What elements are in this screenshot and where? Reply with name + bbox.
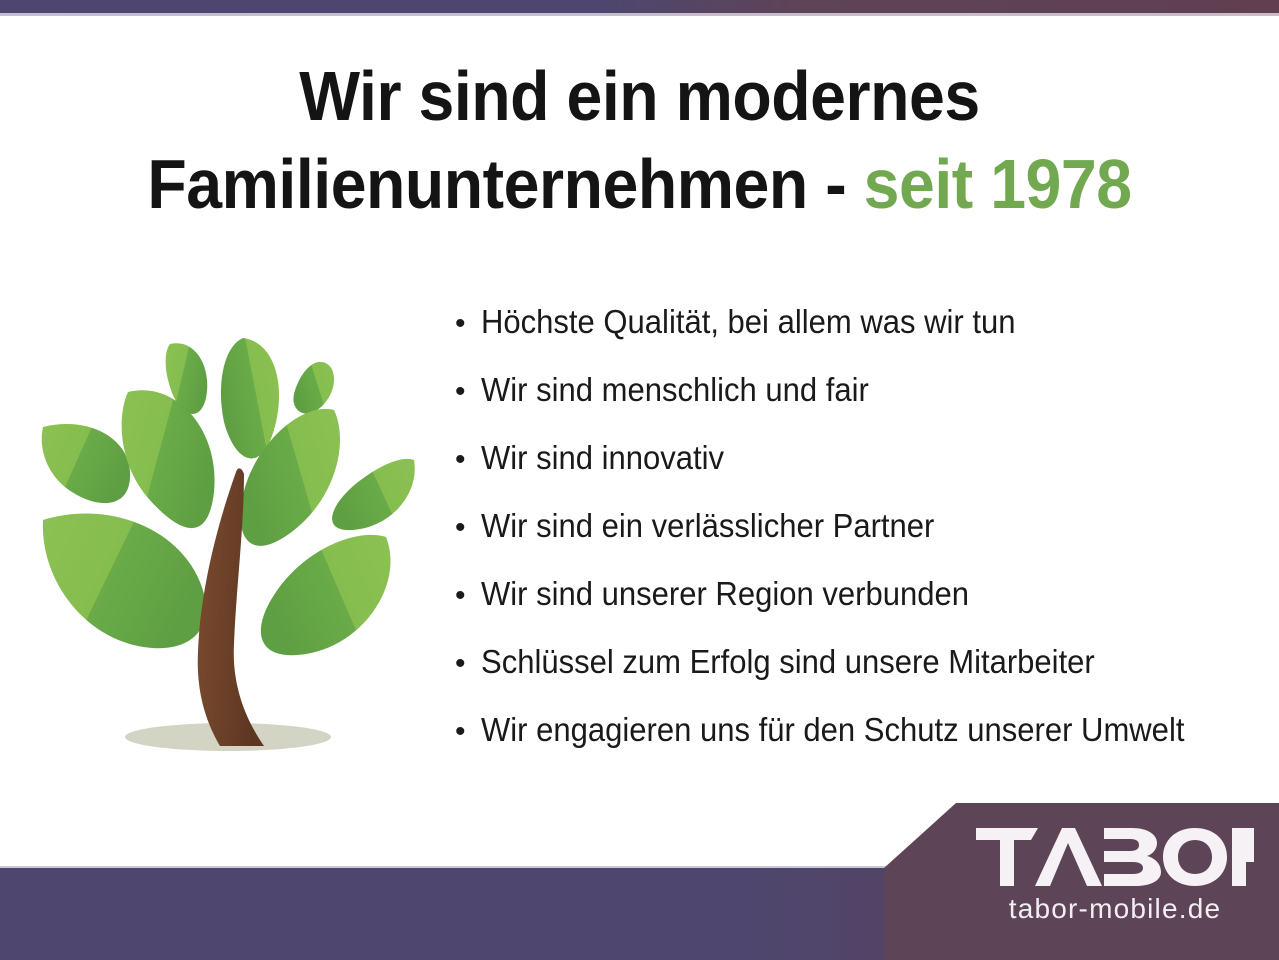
list-item-label: Wir sind ein verlässlicher Partner bbox=[481, 506, 934, 546]
list-item-label: Wir sind unserer Region verbunden bbox=[481, 574, 969, 614]
bullet-marker-icon: • bbox=[455, 309, 481, 339]
headline-line-1: Wir sind ein modernes bbox=[51, 52, 1228, 140]
bullet-marker-icon: • bbox=[455, 513, 481, 543]
list-item-label: Höchste Qualität, bei allem was wir tun bbox=[481, 302, 1015, 342]
list-item-label: Wir sind menschlich und fair bbox=[481, 370, 869, 410]
list-item: • Wir sind innovativ bbox=[455, 438, 1270, 506]
bullet-marker-icon: • bbox=[455, 717, 481, 747]
leaf-lower-right bbox=[261, 535, 391, 655]
leaf-top-right bbox=[293, 362, 334, 414]
list-item-label: Schlüssel zum Erfolg sind unsere Mitarbe… bbox=[481, 642, 1095, 682]
leaf-lower-left bbox=[43, 514, 206, 649]
list-item: • Höchste Qualität, bei allem was wir tu… bbox=[455, 302, 1270, 370]
slide: Wir sind ein modernes Familienunternehme… bbox=[0, 0, 1279, 960]
leaf-mid-right bbox=[332, 459, 415, 530]
top-accent-hairline bbox=[0, 13, 1279, 16]
list-item-label: Wir sind innovativ bbox=[481, 438, 724, 478]
bullet-marker-icon: • bbox=[455, 581, 481, 611]
bullet-marker-icon: • bbox=[455, 649, 481, 679]
bullet-marker-icon: • bbox=[455, 445, 481, 475]
leaf-upper-left bbox=[122, 390, 215, 528]
list-item: • Wir sind unserer Region verbunden bbox=[455, 574, 1270, 642]
list-item: • Wir engagieren uns für den Schutz unse… bbox=[455, 710, 1270, 778]
leaf-top-center bbox=[221, 338, 279, 458]
headline-line-2: Familienunternehmen - seit 1978 bbox=[51, 140, 1228, 228]
logo-panel: tabor-mobile.de bbox=[884, 803, 1279, 960]
leaf-mid-left bbox=[42, 424, 130, 503]
top-accent-bar bbox=[0, 0, 1279, 13]
page-title: Wir sind ein modernes Familienunternehme… bbox=[51, 52, 1228, 228]
list-item: • Wir sind ein verlässlicher Partner bbox=[455, 506, 1270, 574]
bullet-marker-icon: • bbox=[455, 377, 481, 407]
list-item-label: Wir engagieren uns für den Schutz unsere… bbox=[481, 710, 1184, 750]
logo-url-label: tabor-mobile.de bbox=[976, 893, 1254, 925]
value-list: • Höchste Qualität, bei allem was wir tu… bbox=[455, 302, 1270, 778]
headline-line-2-main: Familienunternehmen - bbox=[147, 145, 863, 223]
tabor-logo-icon bbox=[976, 828, 1254, 886]
headline-accent-year: seit 1978 bbox=[864, 145, 1132, 223]
list-item: • Wir sind menschlich und fair bbox=[455, 370, 1270, 438]
tree-illustration bbox=[28, 332, 428, 762]
list-item: • Schlüssel zum Erfolg sind unsere Mitar… bbox=[455, 642, 1270, 710]
